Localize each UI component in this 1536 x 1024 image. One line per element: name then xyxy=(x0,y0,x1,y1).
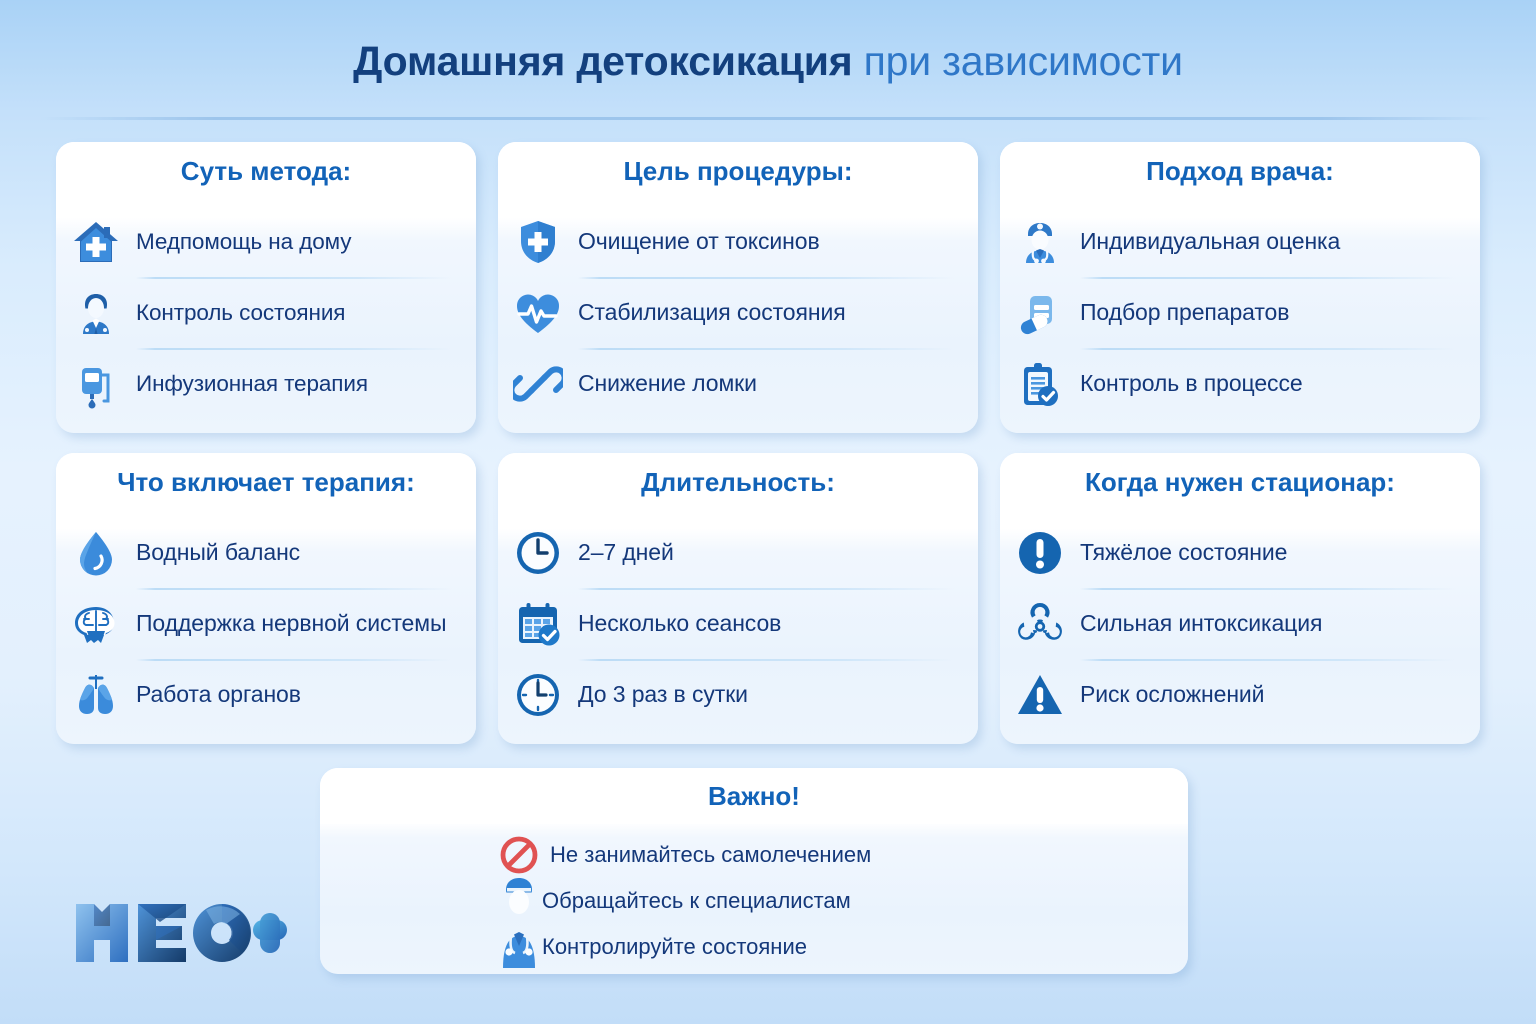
card-dlitelnost: Длительность: 2–7 дней Несколько сеансов… xyxy=(498,453,978,744)
list-item[interactable]: 2–7 дней xyxy=(512,517,960,588)
card-title: Цель процедуры: xyxy=(623,156,852,187)
brand-logo xyxy=(72,900,288,966)
list-item[interactable]: Водный баланс xyxy=(70,517,458,588)
cards-grid: Суть метода: Медпомощь на дому Контроль … xyxy=(56,142,1480,744)
list-item-label: До 3 раз в сутки xyxy=(578,681,748,708)
warning-triangle-icon xyxy=(1014,669,1066,721)
card-title: Что включает терапия: xyxy=(117,467,415,498)
card-header: Суть метода: xyxy=(56,142,476,200)
list-item[interactable]: Не занимайтесь самолечением xyxy=(320,832,1188,878)
card-title: Суть метода: xyxy=(181,156,351,187)
card-podhod-vracha: Подход врача: Индивидуальная оценка Подб… xyxy=(1000,142,1480,433)
card-title: Важно! xyxy=(708,781,800,812)
page-title: Домашняя детоксикация при зависимости xyxy=(0,38,1536,85)
list-item-label: 2–7 дней xyxy=(578,539,674,566)
card-body: Не занимайтесь самолечением Обращайтесь … xyxy=(320,824,1188,974)
list-item-label: Водный баланс xyxy=(136,539,300,566)
pills-icon xyxy=(1014,287,1066,339)
doctor-stethoscope-icon xyxy=(1014,216,1066,268)
water-drop-icon xyxy=(70,527,122,579)
list-item-label: Очищение от токсинов xyxy=(578,228,820,255)
list-item-label: Инфузионная терапия xyxy=(136,371,368,397)
card-kogda-nuzhen-stacionar: Когда нужен стационар: Тяжёлое состояние… xyxy=(1000,453,1480,744)
list-item-label: Контролируйте состояние xyxy=(542,934,807,960)
card-body: Тяжёлое состояние Сильная интоксикация Р… xyxy=(1000,511,1480,744)
exclamation-circle-icon xyxy=(1014,527,1066,579)
list-item[interactable]: Медпомощь на дому xyxy=(70,206,458,277)
list-item-label: Работа органов xyxy=(136,681,301,708)
card-title: Когда нужен стационар: xyxy=(1085,467,1395,498)
list-item[interactable]: Индивидуальная оценка xyxy=(1014,206,1462,277)
shield-cross-icon xyxy=(512,216,564,268)
card-header: Важно! xyxy=(320,768,1188,824)
card-title: Подход врача: xyxy=(1146,156,1334,187)
list-item[interactable]: Инфузионная терапия xyxy=(70,348,458,419)
brain-icon xyxy=(70,598,122,650)
clipboard-check-icon xyxy=(1014,358,1066,410)
page-title-light: при зависимости xyxy=(852,38,1182,84)
card-vazhno: Важно! Не занимайтесь самолечением xyxy=(320,768,1188,974)
list-item[interactable]: Тяжёлое состояние xyxy=(1014,517,1462,588)
list-item-label: Подбор препаратов xyxy=(1080,299,1289,326)
card-sut-metoda: Суть метода: Медпомощь на дому Контроль … xyxy=(56,142,476,433)
list-item[interactable]: Очищение от токсинов xyxy=(512,206,960,277)
title-divider xyxy=(40,117,1496,120)
list-item[interactable]: Несколько сеансов xyxy=(512,588,960,659)
card-header: Когда нужен стационар: xyxy=(1000,453,1480,511)
list-item[interactable]: Поддержка нервной системы xyxy=(70,588,458,659)
list-item[interactable]: Контроль состояния xyxy=(70,277,458,348)
list-item-label: Поддержка нервной системы xyxy=(136,610,446,637)
list-item[interactable]: До 3 раз в сутки xyxy=(512,659,960,730)
biohazard-icon xyxy=(1014,598,1066,650)
clock-icon xyxy=(512,527,564,579)
chain-link-icon xyxy=(512,358,564,410)
page-title-area: Домашняя детоксикация при зависимости xyxy=(0,0,1536,85)
clock-ticks-icon xyxy=(512,669,564,721)
list-item[interactable]: Стабилизация состояния xyxy=(512,277,960,348)
calendar-check-icon xyxy=(512,598,564,650)
iv-drip-icon xyxy=(70,358,122,410)
doctor-person-icon xyxy=(496,872,542,968)
list-item[interactable]: Работа органов xyxy=(70,659,458,730)
page-title-bold: Домашняя детоксикация xyxy=(353,38,852,84)
list-item-label: Сильная интоксикация xyxy=(1080,610,1322,637)
list-item-label: Риск осложнений xyxy=(1080,681,1264,708)
list-item[interactable]: Риск осложнений xyxy=(1014,659,1462,730)
list-item[interactable]: Сильная интоксикация xyxy=(1014,588,1462,659)
card-body: Водный баланс Поддержка нервной системы … xyxy=(56,511,476,744)
important-card-wrap: Важно! Не занимайтесь самолечением xyxy=(320,768,1188,974)
list-item-label: Тяжёлое состояние xyxy=(1080,539,1287,566)
list-item-label: Медпомощь на дому xyxy=(136,229,351,255)
card-title: Длительность: xyxy=(641,467,835,498)
card-header: Цель процедуры: xyxy=(498,142,978,200)
heart-pulse-icon xyxy=(512,287,564,339)
card-header: Длительность: xyxy=(498,453,978,511)
card-body: 2–7 дней Несколько сеансов До 3 раз в су… xyxy=(498,511,978,744)
card-chto-vkluchaet-terapiya: Что включает терапия: Водный баланс Подд… xyxy=(56,453,476,744)
card-body: Индивидуальная оценка Подбор препаратов … xyxy=(1000,200,1480,433)
doctor-person-icon xyxy=(70,287,122,339)
list-item[interactable]: Контролируйте состояние xyxy=(320,924,1188,970)
list-item-label: Стабилизация состояния xyxy=(578,299,846,326)
lungs-icon xyxy=(70,669,122,721)
card-header: Что включает терапия: xyxy=(56,453,476,511)
house-cross-icon xyxy=(70,216,122,268)
card-body: Очищение от токсинов Стабилизация состоя… xyxy=(498,200,978,433)
list-item[interactable]: Снижение ломки xyxy=(512,348,960,419)
list-item-label: Обращайтесь к специалистам xyxy=(542,888,851,914)
list-item-label: Несколько сеансов xyxy=(578,610,781,637)
list-item-label: Снижение ломки xyxy=(578,370,757,397)
card-body: Медпомощь на дому Контроль состояния Инф… xyxy=(56,200,476,433)
list-item-label: Контроль в процессе xyxy=(1080,370,1303,397)
list-item[interactable]: Контроль в процессе xyxy=(1014,348,1462,419)
card-header: Подход врача: xyxy=(1000,142,1480,200)
list-item[interactable]: Обращайтесь к специалистам xyxy=(320,878,1188,924)
list-item-label: Индивидуальная оценка xyxy=(1080,228,1340,255)
list-item-label: Контроль состояния xyxy=(136,300,345,326)
list-item-label: Не занимайтесь самолечением xyxy=(550,842,871,868)
list-item[interactable]: Подбор препаратов xyxy=(1014,277,1462,348)
card-cel-procedury: Цель процедуры: Очищение от токсинов Ста… xyxy=(498,142,978,433)
